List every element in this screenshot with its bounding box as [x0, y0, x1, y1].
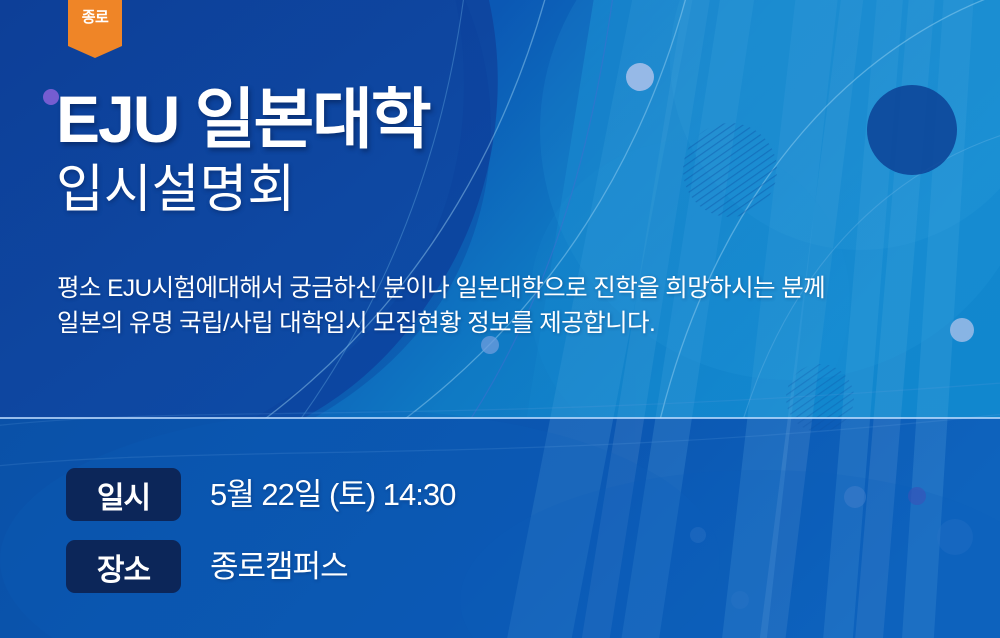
event-info-list: 일시 5월 22일 (토) 14:30 장소 종로캠퍼스 — [66, 468, 455, 593]
description-line-1: 평소 EJU시험에대해서 궁금하신 분이나 일본대학으로 진학을 희망하시는 분… — [57, 272, 967, 307]
event-banner: 종로 EJU 일본대학 입시설명회 평소 EJU시험에대해서 궁금하신 분이나 … — [0, 0, 1000, 638]
page-title: EJU 일본대학 — [56, 86, 430, 153]
info-row-datetime: 일시 5월 22일 (토) 14:30 — [66, 468, 455, 521]
info-label-location: 장소 — [66, 540, 181, 593]
hero-title-group: EJU 일본대학 입시설명회 — [56, 86, 430, 221]
info-value-datetime: 5월 22일 (토) 14:30 — [210, 479, 455, 510]
description-text: 평소 EJU시험에대해서 궁금하신 분이나 일본대학으로 진학을 희망하시는 분… — [57, 272, 967, 342]
ribbon-label: 종로 — [68, 10, 122, 25]
page-subtitle: 입시설명회 — [56, 161, 430, 221]
campus-ribbon-tag: 종로 — [68, 0, 122, 58]
info-value-location: 종로캠퍼스 — [210, 551, 348, 582]
horizontal-divider — [0, 417, 1000, 419]
info-label-datetime: 일시 — [66, 468, 181, 521]
info-row-location: 장소 종로캠퍼스 — [66, 540, 455, 593]
description-line-2: 일본의 유명 국립/사립 대학입시 모집현황 정보를 제공합니다. — [57, 307, 967, 342]
